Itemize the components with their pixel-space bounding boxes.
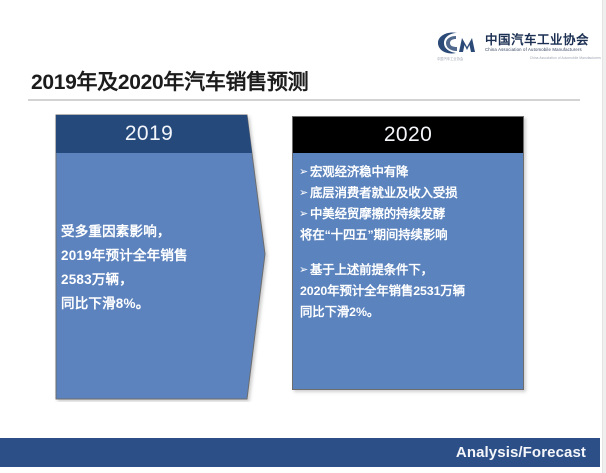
panel-2019-line-1: 受多重因素影响， <box>61 220 266 244</box>
panel-2020-header: 2020 <box>384 123 432 147</box>
bullet-group-spacer <box>299 246 521 260</box>
title-divider <box>28 99 580 101</box>
bullet-group-forecast: ➢ 基于上述前提条件下， 2020年预计全年销售2531万辆 同比下滑2%。 <box>299 260 521 323</box>
bullet-continuation: 将在“十四五”期间持续影响 <box>299 225 521 246</box>
page-title: 2019年及2020年汽车销售预测 <box>31 66 308 96</box>
cm-swoosh-icon <box>437 30 481 56</box>
arrow-bullet-icon: ➢ <box>299 162 310 183</box>
panel-2019: 2019 受多重因素影响， 2019年预计全年销售 2583万辆， 同比下滑8%… <box>51 114 270 402</box>
bullet-continuation: 2020年预计全年销售2531万辆 <box>299 281 521 302</box>
arrow-bullet-icon: ➢ <box>299 183 310 204</box>
bullet-text: 中美经贸摩擦的持续发酵 <box>310 204 445 225</box>
logo-subcaption-right: China Association of Automobile Manufact… <box>530 56 601 61</box>
bullet-item: ➢ 底层消费者就业及收入受损 <box>299 183 521 204</box>
bullet-item: ➢ 基于上述前提条件下， <box>299 260 521 281</box>
panel-2020-header-band: 2020 <box>293 117 523 153</box>
footer-label: Analysis/Forecast <box>456 444 586 461</box>
logo-subcaption: 中国汽车工业协会 China Association of Automobile… <box>437 56 601 61</box>
logo-subcaption-left: 中国汽车工业协会 <box>437 56 463 61</box>
bullet-item: ➢ 中美经贸摩擦的持续发酵 <box>299 204 521 225</box>
bullet-continuation: 同比下滑2%。 <box>299 302 521 323</box>
panel-2019-body: 受多重因素影响， 2019年预计全年销售 2583万辆， 同比下滑8%。 <box>61 220 266 316</box>
logo-name-cn: 中国汽车工业协会 <box>485 33 589 47</box>
panel-2019-line-2: 2019年预计全年销售 <box>61 244 266 268</box>
panel-2019-line-4: 同比下滑8%。 <box>61 292 266 316</box>
arrow-bullet-icon: ➢ <box>299 204 310 225</box>
panel-2020-body: ➢ 宏观经济稳中有降 ➢ 底层消费者就业及收入受损 ➢ 中美经贸摩擦的持续发酵 … <box>293 153 525 323</box>
bullet-text: 基于上述前提条件下， <box>310 260 433 281</box>
slide-canvas: 中国汽车工业协会 China Association of Automobile… <box>0 0 606 473</box>
panel-2020: 2020 ➢ 宏观经济稳中有降 ➢ 底层消费者就业及收入受损 ➢ 中美经贸摩擦的… <box>292 116 524 390</box>
bullet-item: ➢ 宏观经济稳中有降 <box>299 162 521 183</box>
bullet-group-premises: ➢ 宏观经济稳中有降 ➢ 底层消费者就业及收入受损 ➢ 中美经贸摩擦的持续发酵 … <box>299 162 521 246</box>
footer-bar: Analysis/Forecast <box>0 438 600 467</box>
logo-name-en: China Association of Automobile Manufact… <box>485 47 589 53</box>
arrow-bullet-icon: ➢ <box>299 260 310 281</box>
bullet-text: 底层消费者就业及收入受损 <box>310 183 458 204</box>
caam-logo: 中国汽车工业协会 China Association of Automobile… <box>437 26 601 60</box>
panel-2019-header: 2019 <box>51 122 247 146</box>
bullet-text: 宏观经济稳中有降 <box>310 162 408 183</box>
slide-right-edge <box>602 0 606 473</box>
panel-2019-line-3: 2583万辆， <box>61 268 266 292</box>
